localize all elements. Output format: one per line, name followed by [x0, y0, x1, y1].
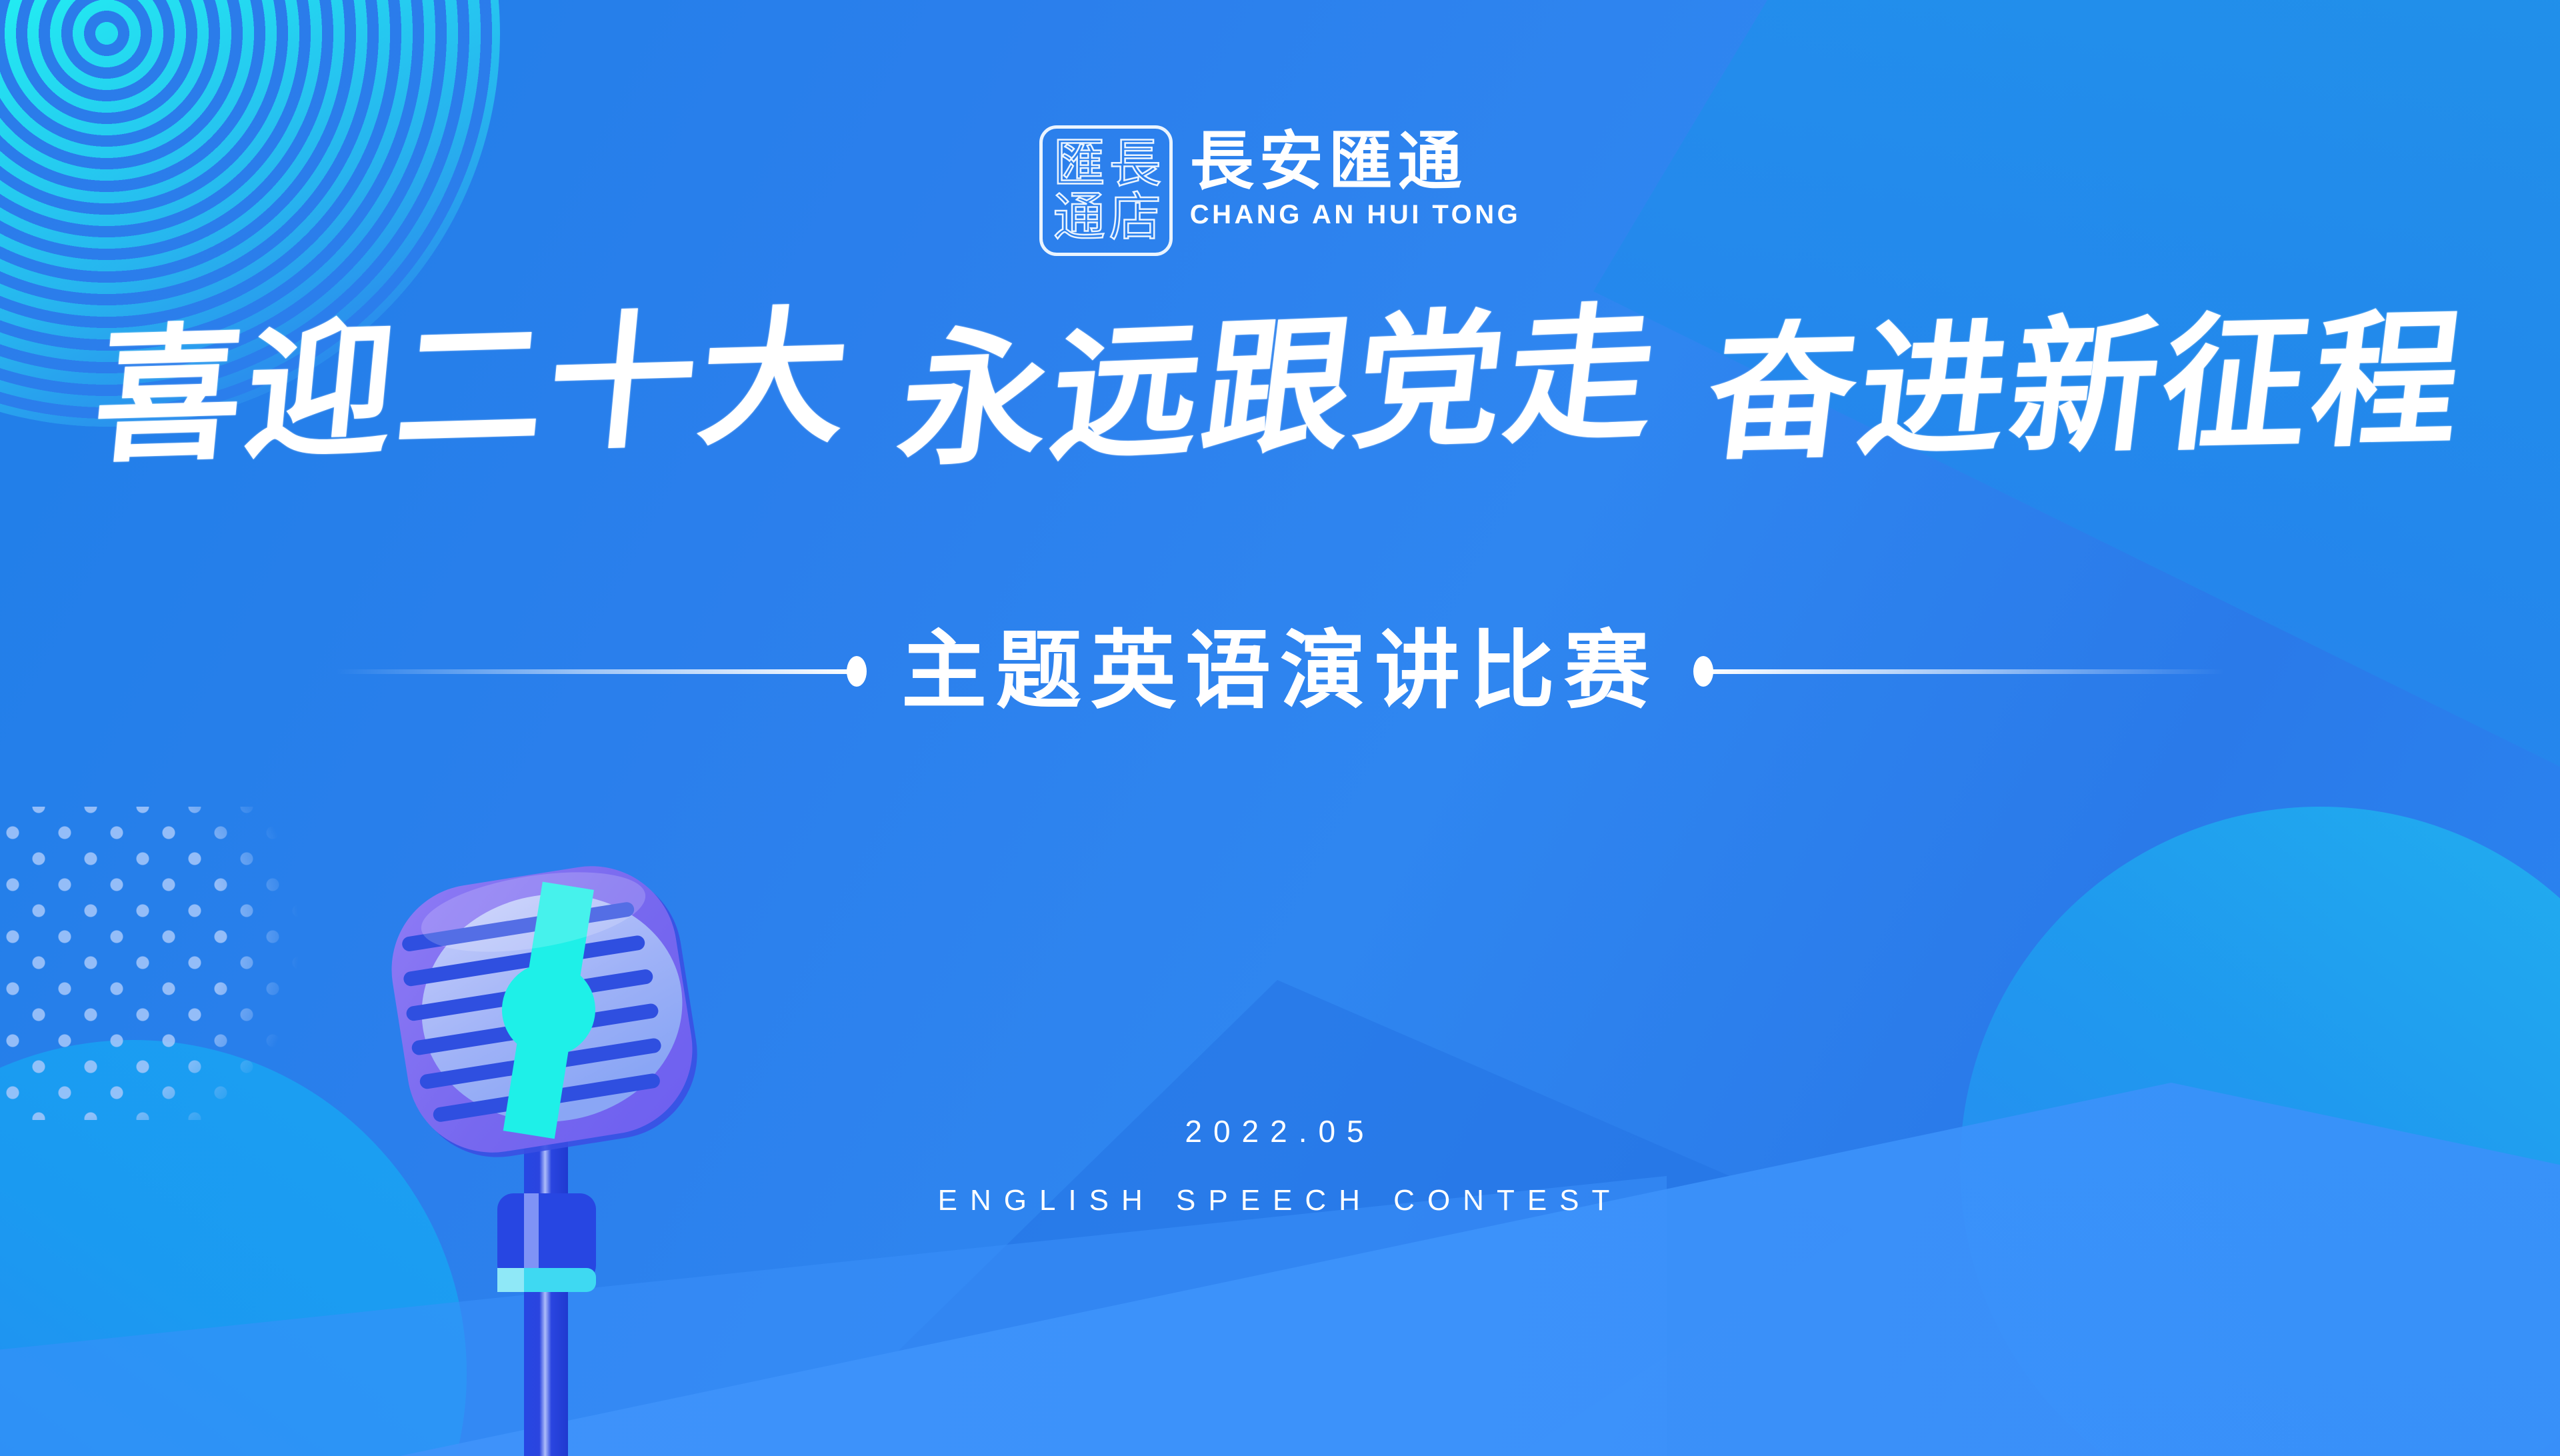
headline-phrase-1: 喜迎二十大: [89, 303, 858, 470]
rule-dot-right-icon: [1693, 656, 1713, 687]
seal-character-4: 店: [1109, 193, 1161, 242]
headline: 喜迎二十大 永远跟党走 奋进新征程: [0, 313, 2560, 460]
decorative-rule-right: [1697, 669, 2224, 674]
brand-name-en: CHANG AN HUI TONG: [1190, 200, 1521, 230]
microphone-icon: [373, 860, 720, 1456]
seal-character-1: 匯: [1053, 139, 1105, 189]
dot-grid-pattern: [0, 807, 300, 1120]
rule-dot-left-icon: [847, 656, 867, 687]
seal-character-3: 通: [1053, 193, 1105, 242]
subtitle-text: 主题英语演讲比赛: [863, 627, 1697, 716]
seal-character-2: 長: [1109, 139, 1161, 189]
polygon-dark-bottom: [787, 980, 1853, 1456]
poster-canvas: 匯 長 通 店 長安匯通 CHANG AN HUI TONG 喜迎二十大 永远跟…: [0, 0, 2560, 1456]
subtitle-row: 主题英语演讲比赛: [0, 627, 2560, 716]
brand-name-cn: 長安匯通: [1190, 129, 1521, 195]
brand-wordmark: 長安匯通 CHANG AN HUI TONG: [1190, 125, 1521, 230]
decorative-rule-left: [336, 669, 863, 674]
brand-logo: 匯 長 通 店 長安匯通 CHANG AN HUI TONG: [0, 125, 2560, 256]
seal-stamp-icon: 匯 長 通 店: [1039, 125, 1173, 256]
headline-phrase-2: 永远跟党走: [893, 299, 1667, 474]
polygon-light-bottom-left: [0, 1176, 1667, 1456]
headline-phrase-3: 奋进新征程: [1700, 305, 2473, 468]
